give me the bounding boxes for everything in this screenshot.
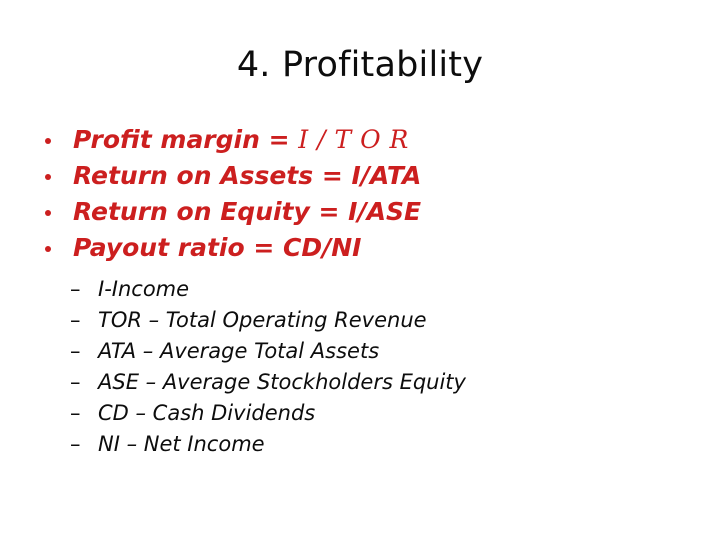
- list-item: Profit margin = I / T O R: [0, 122, 720, 158]
- slide: 4. Profitability Profit margin = I / T O…: [0, 0, 720, 540]
- en-dash-icon: –: [70, 336, 81, 367]
- en-dash-icon: –: [70, 398, 81, 429]
- en-dash-icon: –: [70, 367, 81, 398]
- ratio-label: Profit margin =: [73, 125, 298, 154]
- definition-text: CD – Cash Dividends: [98, 401, 315, 425]
- bullet-dot-icon: [45, 138, 51, 144]
- ratio-label: Return on Equity = I/ASE: [73, 197, 421, 226]
- bullet-dot-icon: [45, 210, 51, 216]
- list-item: – I-Income: [0, 274, 720, 305]
- en-dash-icon: –: [70, 305, 81, 336]
- definition-text: I-Income: [98, 277, 189, 301]
- bullet-dot-icon: [45, 246, 51, 252]
- slide-body: Profit margin = I / T O R Return on Asse…: [0, 122, 720, 460]
- list-item: – CD – Cash Dividends: [0, 398, 720, 429]
- list-item: Return on Equity = I/ASE: [0, 194, 720, 230]
- definition-text: NI – Net Income: [98, 432, 265, 456]
- page-title: 4. Profitability: [0, 44, 720, 86]
- list-item: – ATA – Average Total Assets: [0, 336, 720, 367]
- definition-text: ATA – Average Total Assets: [98, 339, 379, 363]
- list-item: – ASE – Average Stockholders Equity: [0, 367, 720, 398]
- list-item: – NI – Net Income: [0, 429, 720, 460]
- list-item: Payout ratio = CD/NI: [0, 230, 720, 266]
- list-item: – TOR – Total Operating Revenue: [0, 305, 720, 336]
- ratio-label: Return on Assets = I/ATA: [73, 161, 421, 190]
- definition-list: – I-Income – TOR – Total Operating Reven…: [0, 274, 720, 460]
- bullet-dot-icon: [45, 174, 51, 180]
- ratio-list: Profit margin = I / T O R Return on Asse…: [0, 122, 720, 266]
- ratio-label: Payout ratio = CD/NI: [73, 233, 361, 262]
- definition-text: ASE – Average Stockholders Equity: [98, 370, 466, 394]
- list-item: Return on Assets = I/ATA: [0, 158, 720, 194]
- ratio-formula: I / T O R: [298, 125, 409, 154]
- en-dash-icon: –: [70, 274, 81, 305]
- en-dash-icon: –: [70, 429, 81, 460]
- definition-text: TOR – Total Operating Revenue: [98, 308, 427, 332]
